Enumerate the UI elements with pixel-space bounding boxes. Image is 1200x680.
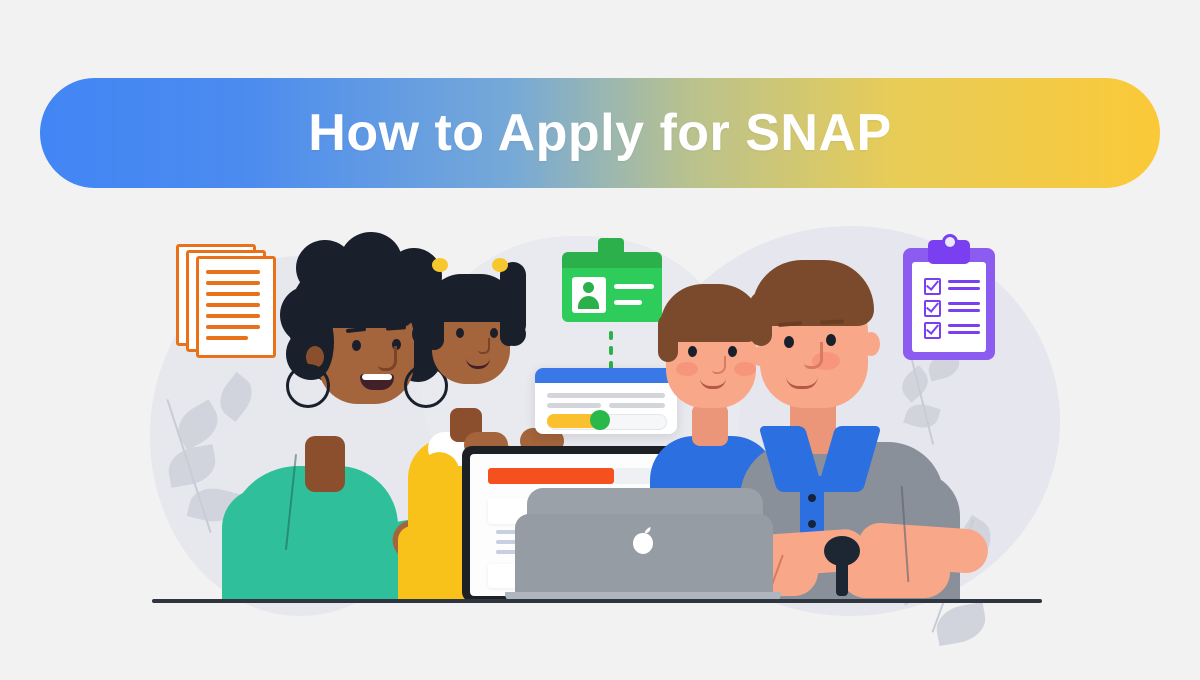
man-eye (826, 334, 836, 346)
checklist-text-line (948, 309, 980, 312)
woman-eye (352, 340, 361, 351)
tablet-header-bar[interactable] (488, 468, 614, 484)
clipboard-ring-icon (942, 234, 958, 250)
document-text-line (206, 314, 260, 318)
boy-eye (728, 346, 737, 357)
progress-card-text-line (547, 393, 665, 398)
man-shirt-button (808, 520, 816, 528)
checkbox-checked (924, 300, 941, 317)
id-avatar-body-icon (578, 296, 599, 309)
page-header-banner: How to Apply for SNAP (40, 78, 1160, 188)
document-text-line (206, 336, 248, 340)
man-shirt-button (808, 494, 816, 502)
woman-nose (378, 346, 397, 371)
progress-bar-knob[interactable] (590, 410, 610, 430)
document-text-line (206, 281, 260, 285)
document-text-line (206, 325, 260, 329)
man-eye (784, 336, 794, 348)
id-card-text-line (614, 284, 654, 289)
id-card-photo (572, 277, 606, 313)
man-hair-side (750, 292, 772, 346)
checklist-text-line (948, 331, 980, 334)
checkbox-checked (924, 322, 941, 339)
man-watch-face (824, 536, 860, 566)
boy-cheek-blush (734, 362, 756, 376)
document-text-line (206, 303, 260, 307)
hero-illustration (0, 196, 1200, 636)
boy-hair-side (658, 314, 678, 362)
boy-nose (712, 356, 726, 374)
document-text-line (206, 270, 260, 274)
apple-logo-icon (628, 524, 658, 556)
boy-cheek-blush (676, 362, 698, 376)
checkbox-checked (924, 278, 941, 295)
checklist-text-line (948, 324, 980, 327)
woman-neck (305, 436, 345, 492)
id-card-top-bar (562, 252, 662, 268)
woman-teeth (362, 374, 392, 380)
progress-card-header (535, 368, 677, 383)
lanyard-dash (609, 331, 613, 340)
document-text-line (206, 292, 260, 296)
id-card-text-line (614, 300, 642, 305)
boy-neck (692, 404, 728, 446)
checklist-text-line (948, 302, 980, 305)
page-title: How to Apply for SNAP (308, 103, 891, 163)
man-nose (804, 342, 823, 369)
checklist-text-line (948, 280, 980, 283)
girl-hair-tie (432, 258, 448, 272)
boy-eye (688, 346, 697, 357)
girl-hair-tie (492, 258, 508, 272)
checklist-text-line (948, 287, 980, 290)
man-ear (862, 332, 880, 356)
girl-nose (478, 338, 490, 354)
girl-hair-side (500, 300, 518, 346)
girl-hair-side (424, 300, 444, 350)
girl-eye (456, 328, 464, 338)
woman-shoulder-left (222, 488, 292, 602)
table-edge-line (152, 599, 1042, 603)
progress-card-text-line (609, 403, 665, 408)
girl-eye (490, 328, 498, 338)
woman-earring-hoop (286, 364, 330, 408)
progress-card-text-line (547, 403, 601, 408)
page-root: How to Apply for SNAP (0, 0, 1200, 680)
id-avatar-head-icon (583, 282, 594, 293)
lanyard-dash (609, 346, 613, 355)
